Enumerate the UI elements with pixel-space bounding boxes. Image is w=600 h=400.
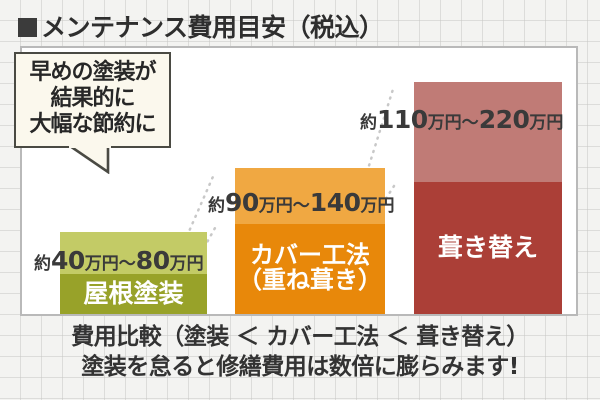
price-label-roof-replacement: 約110万円〜220万円 <box>360 105 563 134</box>
page-title: メンテナンス費用目安（税込） <box>18 8 384 44</box>
price-label-roof-painting: 約40万円〜80万円 <box>34 246 204 275</box>
callout-line-2: 結果的に <box>20 86 165 112</box>
callout-line-3: 大幅な節約に <box>20 112 165 138</box>
bar-cover-method-label: カバー工法 （重ね葺き） <box>235 224 385 314</box>
callout-bubble: 早めの塗装が 結果的に 大幅な節約に <box>14 52 171 148</box>
callout-line-1: 早めの塗装が <box>20 60 165 86</box>
page-title-text: メンテナンス費用目安（税込） <box>41 8 384 44</box>
footer-line-2: 塗装を怠ると修繕費用は数倍に膨らみます! <box>0 352 600 382</box>
footer-line-1: 費用比較（塗装 ＜ カバー工法 ＜ 葺き替え） <box>0 322 600 352</box>
price-label-cover-method: 約90万円〜140万円 <box>208 188 394 217</box>
filled-square-icon <box>18 18 37 37</box>
bar-cover-method-label-line1: カバー工法 <box>250 241 370 269</box>
callout-tail-icon <box>68 146 112 174</box>
footer-note: 費用比較（塗装 ＜ カバー工法 ＜ 葺き替え） 塗装を怠ると修繕費用は数倍に膨ら… <box>0 322 600 383</box>
bar-cover-method-label-line2: （重ね葺き） <box>238 266 382 294</box>
bar-roof-painting-label: 屋根塗装 <box>60 274 207 314</box>
bar-roof-replacement-label: 葺き替え <box>414 182 562 314</box>
